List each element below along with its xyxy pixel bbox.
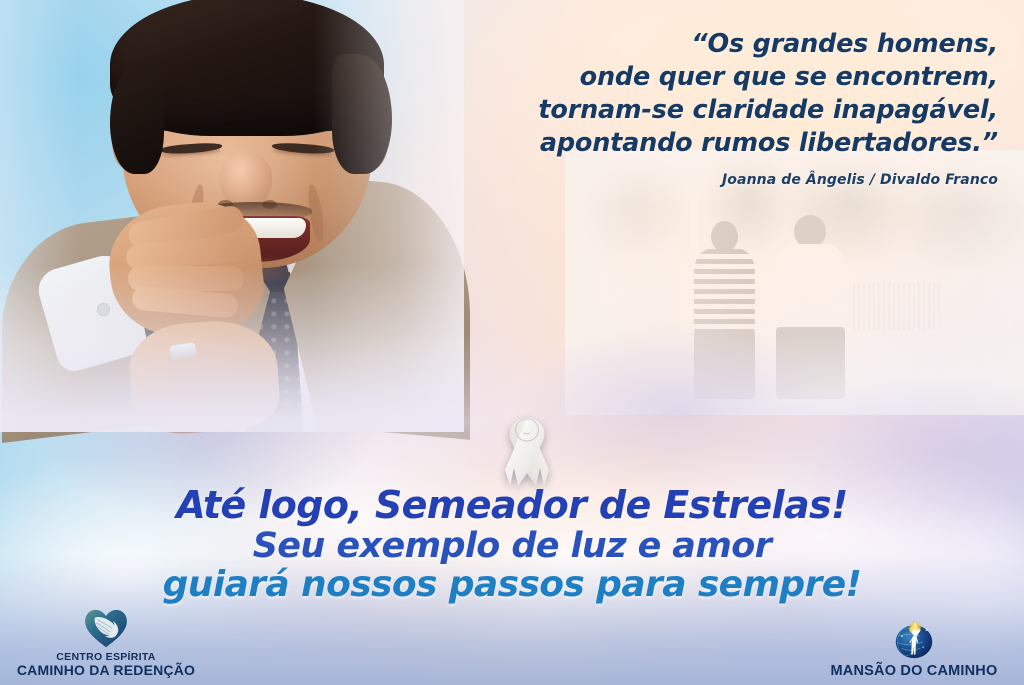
message-line-1: Até logo, Semeador de Estrelas!	[0, 486, 1024, 526]
portrait-divaldo-franco	[0, 0, 464, 432]
quote-block: “Os grandes homens, onde quer que se enc…	[398, 28, 998, 188]
message-line-3: guiará nossos passos para sempre!	[0, 566, 1024, 603]
quote-line-4: apontando rumos libertadores.”	[398, 127, 998, 160]
memorial-tribute-image: “Os grandes homens, onde quer que se enc…	[0, 0, 1024, 685]
quote-line-2: onde quer que se encontrem,	[398, 61, 998, 94]
globe-torch-icon	[892, 618, 936, 660]
logo-left-line-2: CAMINHO DA REDENÇÃO	[17, 663, 195, 679]
heart-hands-icon	[83, 609, 129, 649]
quote-line-1: “Os grandes homens,	[398, 28, 998, 61]
message-line-2: Seu exemplo de luz e amor	[0, 528, 1024, 564]
logo-mansao-do-caminho: MANSÃO DO CAMINHO	[808, 618, 1020, 679]
quote-line-3: tornam-se claridade inapagável,	[398, 94, 998, 127]
memorial-message: Até logo, Semeador de Estrelas! Seu exem…	[0, 486, 1024, 603]
logo-right-line-1: MANSÃO DO CAMINHO	[831, 663, 998, 679]
logo-centro-espirita-caminho-da-redencao: CENTRO ESPÍRITA CAMINHO DA REDENÇÃO	[8, 609, 204, 679]
portrait-fade-overlay	[0, 0, 464, 432]
quote-attribution: Joanna de Ângelis / Divaldo Franco	[398, 172, 998, 188]
white-ribbon-icon	[492, 410, 562, 490]
